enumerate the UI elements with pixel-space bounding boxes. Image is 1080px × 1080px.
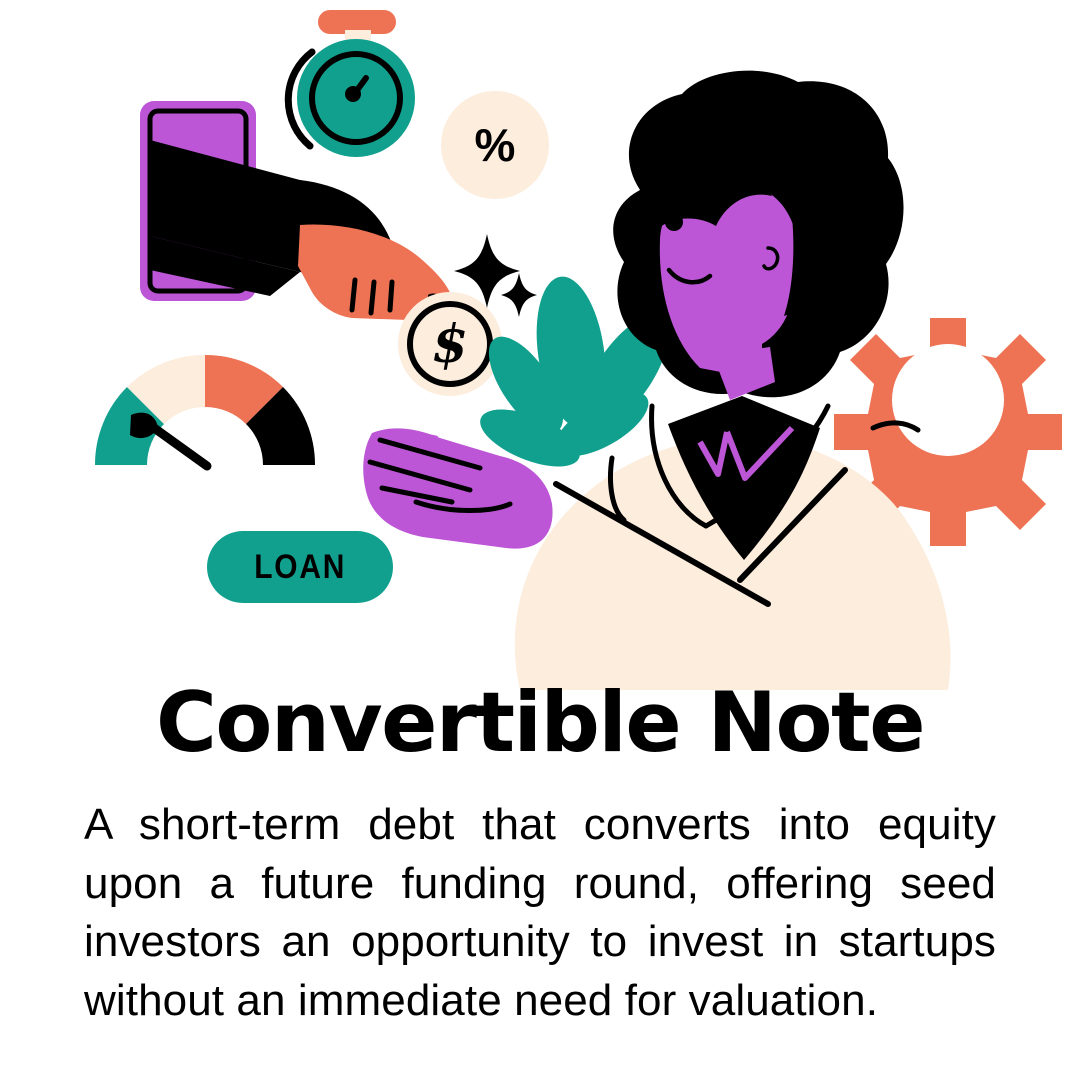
page-title: Convertible Note (0, 680, 1080, 766)
infographic-card: $ (0, 0, 1080, 1080)
stopwatch-icon (288, 10, 415, 157)
speed-gauge-icon (95, 355, 315, 466)
percent-bubble: % (441, 91, 549, 199)
text-block: Convertible Note A short-term debt that … (0, 680, 1080, 1030)
percent-symbol: % (475, 122, 516, 168)
illustration-stage: $ (0, 0, 1080, 690)
page-description: A short-term debt that converts into equ… (84, 796, 996, 1030)
dollar-coin-icon: $ (398, 292, 502, 396)
loan-badge-label: LOAN (254, 548, 346, 587)
svg-text:$: $ (432, 314, 468, 375)
loan-badge: LOAN (207, 531, 393, 603)
